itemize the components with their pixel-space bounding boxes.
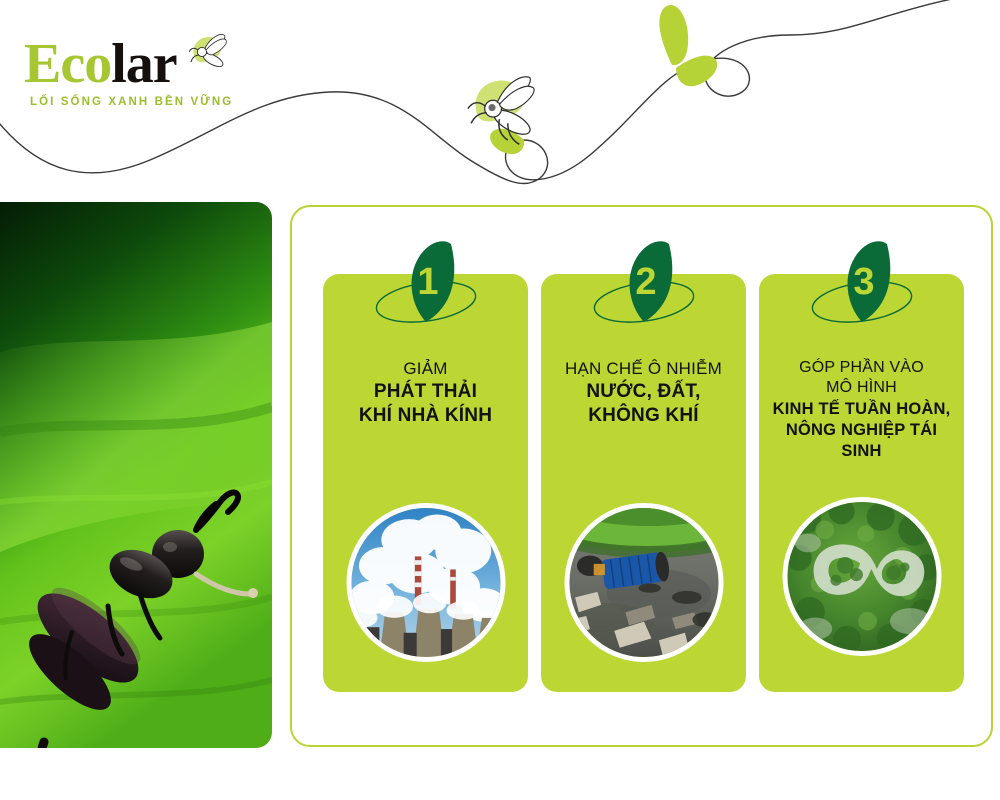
badge-number-2: 2 <box>635 261 656 303</box>
card2-line-bold-1: NƯỚC, ĐẤT, <box>547 380 740 404</box>
power-plant-smokestacks-photo <box>346 503 505 662</box>
card1-line-light: GIẢM <box>329 358 522 380</box>
brand-logo: Ecolar LỐI SỐNG XANH BỀN VỮNG <box>24 36 254 116</box>
benefit-card-3-text: GÓP PHẦN VÀO MÔ HÌNH KINH TẾ TUẦN HOÀN, … <box>759 358 964 462</box>
benefit-card-2-text: HẠN CHẾ Ô NHIỄM NƯỚC, ĐẤT, KHÔNG KHÍ <box>541 358 746 428</box>
leaf-badge-icon: 3 <box>803 236 921 336</box>
brand-name-part2: lar <box>111 33 176 95</box>
fly-icon <box>189 32 235 78</box>
fly-icon <box>468 77 534 145</box>
benefit-card-1: 1 GIẢM PHÁT THẢI KHÍ NHÀ KÍNH <box>323 274 528 692</box>
leaf-badge-icon: 1 <box>367 236 485 336</box>
card3-line-light-1: GÓP PHẦN VÀO <box>765 358 958 378</box>
leaf-icon <box>659 5 717 86</box>
black-soldier-fly-on-leaf-photo <box>0 202 272 748</box>
card3-line-bold-2: NÔNG NGHIỆP TÁI SINH <box>765 420 958 462</box>
benefit-card-3: 3 GÓP PHẦN VÀO MÔ HÌNH KINH TẾ TUẦN HOÀN… <box>759 274 964 692</box>
badge-number-3: 3 <box>853 261 874 303</box>
benefits-panel: 1 GIẢM PHÁT THẢI KHÍ NHÀ KÍNH <box>290 205 993 747</box>
hero-photo-graphic <box>0 202 272 748</box>
card1-line-bold-1: PHÁT THẢI <box>329 380 522 404</box>
polluted-waste-site-photo <box>564 503 723 662</box>
card2-line-bold-2: KHÔNG KHÍ <box>547 404 740 428</box>
benefit-card-2: 2 HẠN CHẾ Ô NHIỄM NƯỚC, ĐẤT, KHÔNG KHÍ <box>541 274 746 692</box>
card1-line-bold-2: KHÍ NHÀ KÍNH <box>329 404 522 428</box>
leaf-badge-icon: 2 <box>585 236 703 336</box>
card2-line-light: HẠN CHẾ Ô NHIỄM <box>547 358 740 380</box>
brand-name-part1: Eco <box>24 33 111 95</box>
card3-line-light-2: MÔ HÌNH <box>765 378 958 398</box>
card3-line-bold-1: KINH TẾ TUẦN HOÀN, <box>765 399 958 420</box>
benefit-card-1-text: GIẢM PHÁT THẢI KHÍ NHÀ KÍNH <box>323 358 528 428</box>
brand-tagline: LỐI SỐNG XANH BỀN VỮNG <box>30 96 254 108</box>
benefit-cards-row: 1 GIẢM PHÁT THẢI KHÍ NHÀ KÍNH <box>292 207 995 749</box>
infographic-canvas: Ecolar LỐI SỐNG XANH BỀN VỮNG <box>0 0 1000 800</box>
circular-economy-forest-photo <box>782 497 941 656</box>
badge-number-1: 1 <box>417 261 438 303</box>
